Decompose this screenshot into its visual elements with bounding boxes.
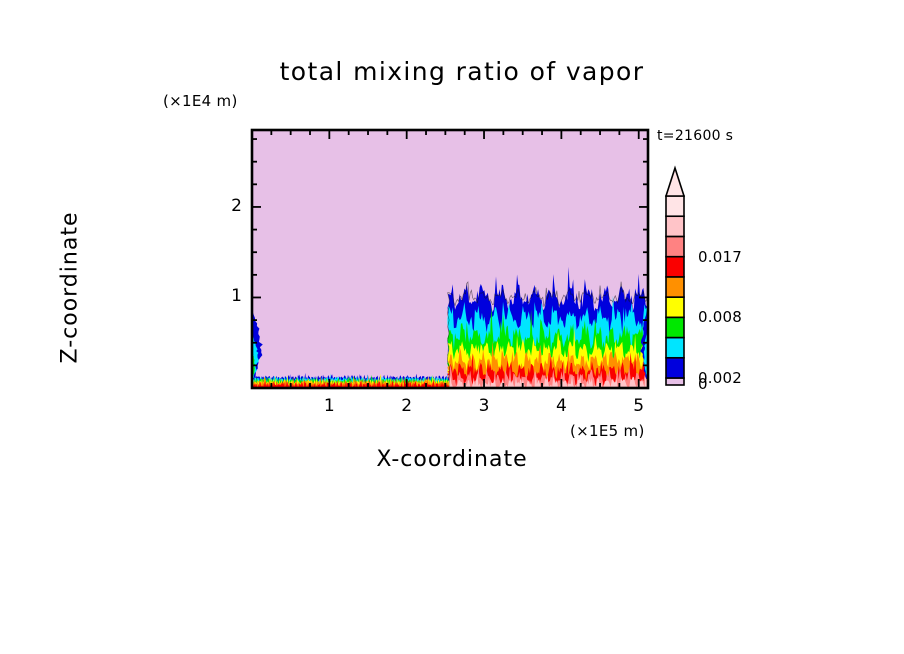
figure-canvas: total mixing ratio of vapor (×1E4 m) t=2… <box>0 0 904 654</box>
contour-plot <box>0 0 904 654</box>
